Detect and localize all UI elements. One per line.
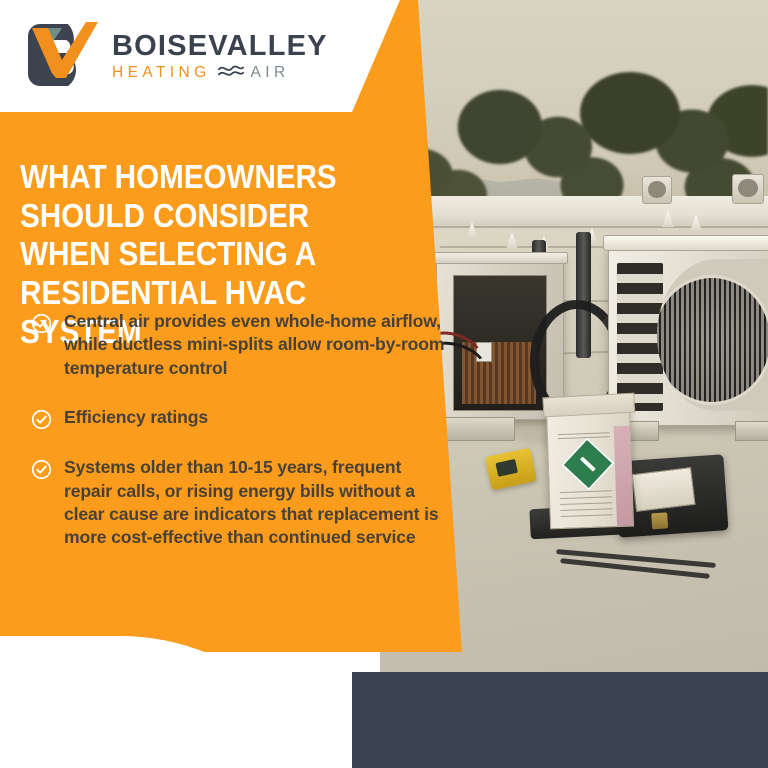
carton-pink-panel (614, 426, 633, 526)
brand-tagline: HEATING AIR (112, 64, 328, 82)
logo-card: BOISEVALLEY HEATING AIR (0, 0, 400, 112)
hazard-diamond-label-icon (561, 437, 615, 491)
carton-flap (542, 393, 635, 418)
case-paperwork (631, 467, 695, 512)
list-item-text: Systems older than 10-15 years, frequent… (64, 456, 449, 550)
infographic-poster: ⌃ (0, 0, 768, 768)
boise-valley-logo-icon[interactable] (22, 16, 98, 94)
background-roof-fan (642, 176, 672, 204)
unit-lid (434, 252, 568, 264)
equipment-pad (441, 417, 515, 441)
list-item-text: Efficiency ratings (64, 406, 208, 429)
carton-text-line (561, 514, 613, 517)
brass-fitting (651, 512, 668, 529)
fan-grille-housing (657, 259, 768, 411)
unit-top-panel (603, 235, 768, 251)
benefits-list: Central air provides even whole-home air… (31, 310, 451, 550)
list-item: Central air provides even whole-home air… (31, 310, 451, 380)
brand-name: BOISEVALLEY (112, 32, 328, 61)
background-roof-fan (732, 174, 764, 204)
brand-lockup[interactable]: BOISEVALLEY HEATING AIR (22, 16, 328, 94)
carton-text-line (558, 432, 610, 435)
list-item: Efficiency ratings (31, 406, 451, 430)
carton-text-line (560, 490, 612, 493)
unit-foot (735, 421, 768, 441)
list-item: Systems older than 10-15 years, frequent… (31, 456, 451, 550)
list-item-text: Central air provides even whole-home air… (64, 310, 449, 380)
check-circle-icon (31, 313, 52, 334)
refrigerant-carton (546, 407, 634, 530)
wave-icon (218, 64, 244, 82)
check-circle-icon (31, 409, 52, 430)
roof-parapet-wall (380, 196, 768, 230)
check-circle-icon (31, 459, 52, 480)
wordmark: BOISEVALLEY HEATING AIR (112, 29, 328, 82)
brand-heating-label: HEATING (112, 65, 211, 81)
brand-air-label: AIR (251, 65, 290, 81)
carton-text-line (560, 502, 612, 505)
carton-text-line (560, 508, 612, 511)
fan-grille (657, 275, 768, 405)
carton-text-line (560, 496, 612, 499)
